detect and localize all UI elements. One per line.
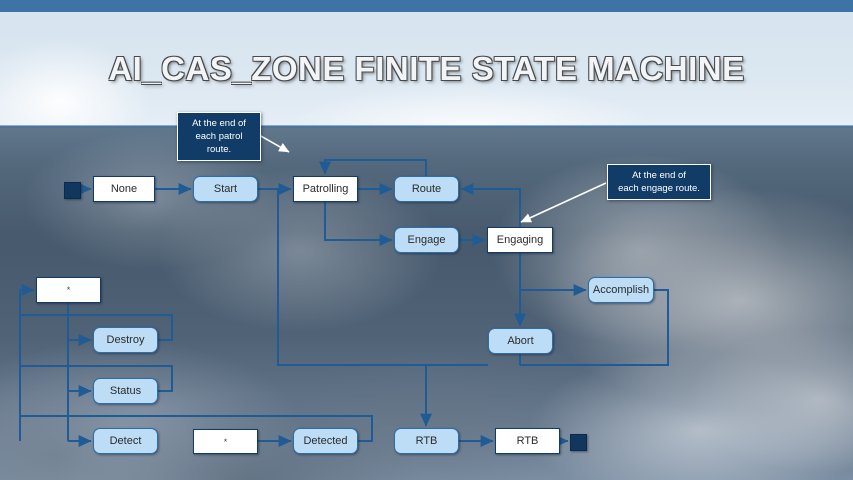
state-node-detect[interactable]: Detect [93, 428, 158, 454]
state-node-abort[interactable]: Abort [488, 328, 553, 354]
node-label: * [224, 437, 228, 447]
callout-line-2: each patrol route. [184, 130, 254, 156]
node-label: Accomplish [593, 284, 649, 296]
node-label: RTB [416, 435, 438, 447]
state-node-none[interactable]: None [93, 176, 155, 202]
state-node-route[interactable]: Route [394, 176, 459, 202]
end-terminator [570, 434, 587, 451]
state-node-wildcard-bottom[interactable]: * [193, 429, 258, 454]
callout-line-1: At the end of [184, 117, 254, 130]
state-node-engaging[interactable]: Engaging [487, 227, 553, 253]
node-label: Destroy [107, 334, 145, 346]
callout-line-2: each engage route. [614, 182, 704, 195]
node-label: Start [214, 183, 237, 195]
node-label: Detected [303, 435, 347, 447]
callout-line-1: At the end of [614, 169, 704, 182]
node-label: Engage [408, 234, 446, 246]
state-node-start[interactable]: Start [193, 176, 258, 202]
state-node-wildcard-top[interactable]: * [36, 277, 101, 303]
node-label: None [111, 183, 137, 195]
callout-patrol-route[interactable]: At the end of each patrol route. [177, 112, 261, 161]
node-label: * [67, 285, 71, 295]
start-terminator [64, 182, 81, 199]
state-node-engage[interactable]: Engage [394, 227, 459, 253]
state-node-status[interactable]: Status [93, 378, 158, 404]
node-label: Abort [507, 335, 533, 347]
slide-canvas: AI_CAS_ZONE FINITE STATE MACHINE [0, 0, 853, 480]
state-node-accomplish[interactable]: Accomplish [588, 277, 654, 303]
callout-engage-route[interactable]: At the end of each engage route. [607, 164, 711, 200]
state-node-destroy[interactable]: Destroy [93, 327, 158, 353]
node-label: Patrolling [303, 183, 349, 195]
state-node-rtb-white[interactable]: RTB [495, 428, 560, 454]
node-label: Status [110, 385, 141, 397]
state-node-rtb-blue[interactable]: RTB [394, 428, 459, 454]
state-node-patrolling[interactable]: Patrolling [293, 176, 358, 202]
node-label: Detect [110, 435, 142, 447]
node-label: RTB [517, 435, 539, 447]
node-label: Route [412, 183, 441, 195]
state-node-detected[interactable]: Detected [293, 428, 358, 454]
node-label: Engaging [497, 234, 544, 246]
